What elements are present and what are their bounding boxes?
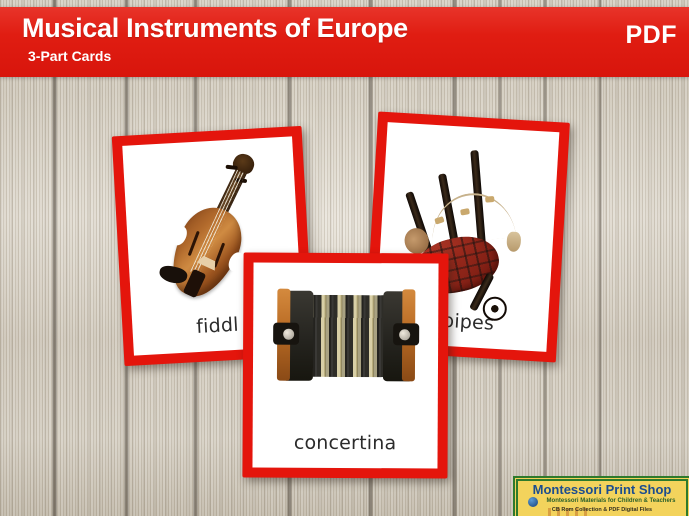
card-concertina-inner: concertina	[252, 263, 438, 469]
logo-subline: CB Rom Collection & PDF Digital Files	[518, 507, 686, 513]
concertina-knob-left	[283, 329, 294, 340]
pdf-badge: PDF	[626, 21, 678, 50]
page-subtitle: 3-Part Cards	[28, 48, 111, 64]
page-title: Musical Instruments of Europe	[22, 13, 408, 44]
concertina-photo	[253, 263, 439, 433]
concertina-bellows-folds	[301, 295, 395, 377]
concertina-knob-right	[399, 329, 410, 340]
bagpipes-tassel	[506, 231, 521, 252]
card-concertina-label: concertina	[252, 432, 437, 469]
concertina-illustration	[275, 291, 421, 380]
publisher-logo[interactable]: Montessori Print Shop Montessori Materia…	[516, 479, 688, 516]
title-banner: Musical Instruments of Europe 3-Part Car…	[0, 7, 689, 77]
logo-title: Montessori Print Shop	[518, 482, 686, 497]
logo-tagline: Montessori Materials for Children & Teac…	[540, 498, 682, 504]
product-preview-image: Musical Instruments of Europe 3-Part Car…	[0, 0, 689, 516]
card-concertina[interactable]: concertina	[242, 252, 448, 478]
bagpipes-ferrule	[485, 196, 494, 203]
globe-icon	[528, 497, 538, 507]
